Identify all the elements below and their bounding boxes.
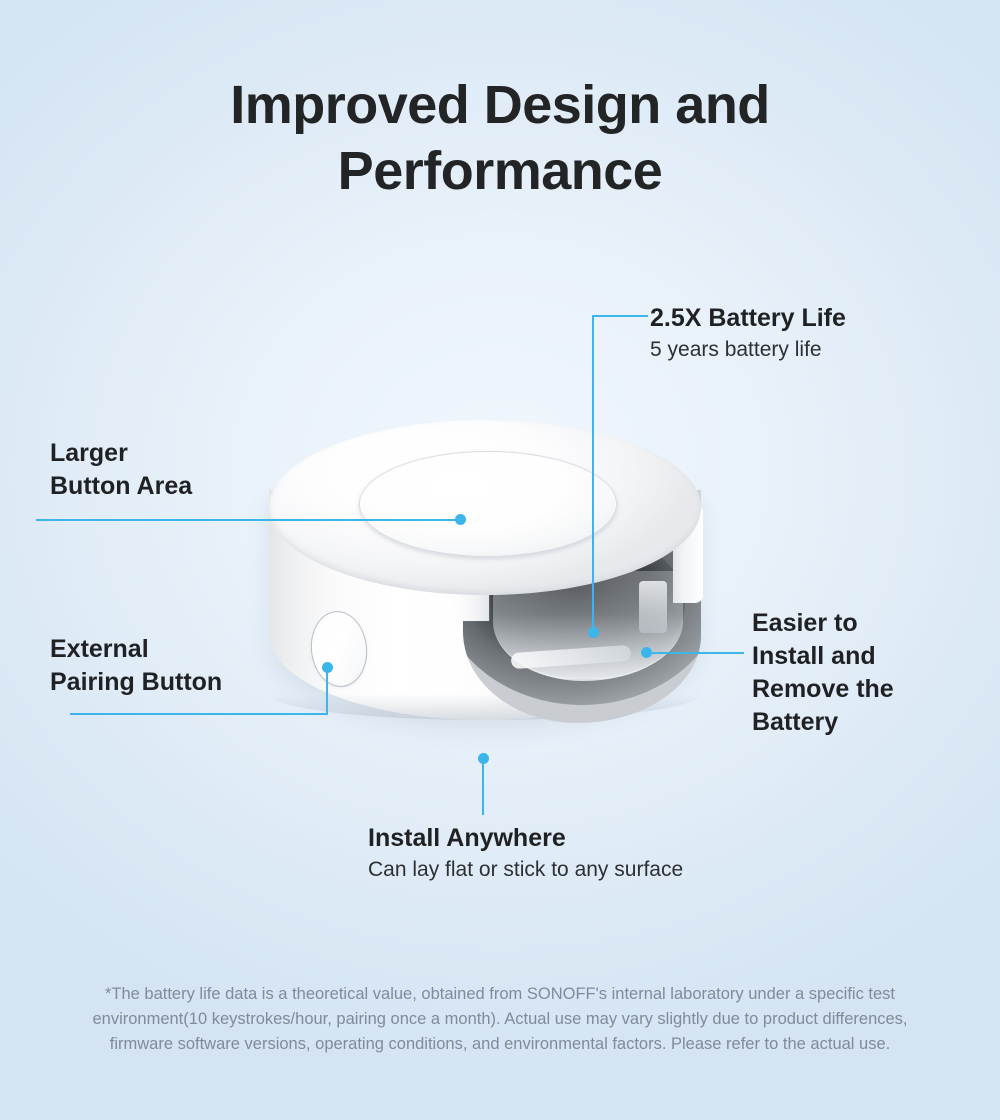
large-button-area [359,451,617,557]
infographic-poster: Improved Design and Performance 2.5X Bat… [0,0,1000,1120]
leader-line-pairing-vertical [326,668,328,715]
callout-install-anywhere-title: Install Anywhere [368,822,683,855]
callout-easier-line-1: Easier to [752,607,894,640]
leader-dot-battery [588,627,599,638]
callout-easier-battery: Easier to Install and Remove the Battery [752,607,894,739]
callout-pairing-line-1: External [50,633,222,666]
callout-pairing-line-2: Pairing Button [50,666,222,699]
page-title-line-1: Improved Design and [0,72,1000,138]
leader-dot-pairing [322,662,333,673]
callout-easier-line-4: Battery [752,706,894,739]
callout-larger-button-area: Larger Button Area [50,437,192,503]
footnote-disclaimer: *The battery life data is a theoretical … [80,982,920,1057]
callout-larger-button-line-1: Larger [50,437,192,470]
leader-line-pairing-horizontal [70,713,328,715]
leader-line-battery-horizontal [592,315,648,317]
leader-dot-larger-button [455,514,466,525]
leader-dot-easier-battery [641,647,652,658]
leader-line-larger-button [36,519,460,521]
callout-install-anywhere-subtitle: Can lay flat or stick to any surface [368,855,683,885]
callout-external-pairing-button: External Pairing Button [50,633,222,699]
callout-install-anywhere: Install Anywhere Can lay flat or stick t… [368,822,683,885]
leader-line-battery-vertical [592,315,594,632]
callout-battery-life-subtitle: 5 years battery life [650,335,846,365]
callout-battery-life-title: 2.5X Battery Life [650,302,846,335]
leader-dot-install-anywhere [478,753,489,764]
callout-easier-line-3: Remove the [752,673,894,706]
leader-line-install-anywhere [482,760,484,815]
callout-battery-life: 2.5X Battery Life 5 years battery life [650,302,846,365]
callout-easier-line-2: Install and [752,640,894,673]
battery-tray-clip [639,581,667,633]
page-title-line-2: Performance [0,138,1000,204]
battery-tray-rail [511,645,632,669]
page-title: Improved Design and Performance [0,72,1000,204]
leader-line-easier-battery [648,652,744,654]
product-illustration [255,415,715,775]
callout-larger-button-line-2: Button Area [50,470,192,503]
